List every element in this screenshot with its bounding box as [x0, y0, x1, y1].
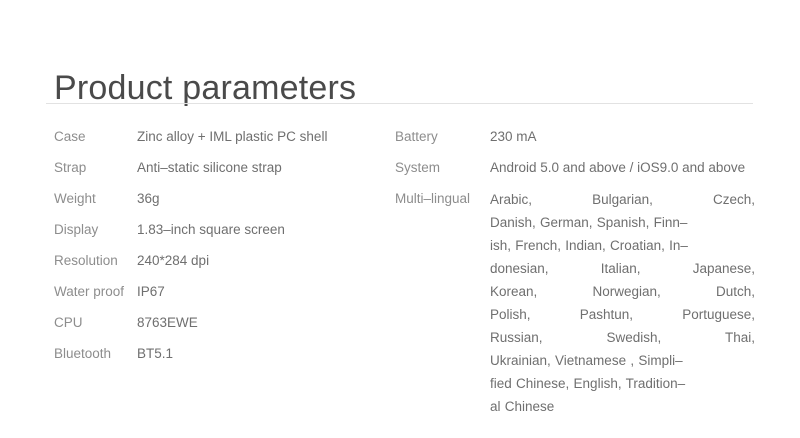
product-parameters-page: Product parameters Case Zinc alloy + IML…	[0, 0, 800, 438]
spec-row-case: Case Zinc alloy + IML plastic PC shell	[54, 126, 384, 147]
spec-row-battery: Battery 230 mA	[395, 126, 755, 147]
spec-column-right: Battery 230 mA System Android 5.0 and ab…	[395, 126, 755, 428]
spec-value-bluetooth: BT5.1	[137, 343, 384, 364]
spec-value-battery: 230 mA	[490, 126, 755, 147]
spec-value-water-proof: IP67	[137, 281, 384, 302]
spec-value-multi-lingual: Arabic, Bulgarian, Czech,Danish, German,…	[490, 188, 755, 418]
spec-row-water-proof: Water proof IP67	[54, 281, 384, 302]
spec-row-multi-lingual: Multi–lingual Arabic, Bulgarian, Czech,D…	[395, 188, 755, 418]
spec-value-display: 1.83–inch square screen	[137, 219, 384, 240]
spec-value-system: Android 5.0 and above / iOS9.0 and above	[490, 157, 755, 178]
spec-row-display: Display 1.83–inch square screen	[54, 219, 384, 240]
spec-label-resolution: Resolution	[54, 250, 137, 271]
spec-value-weight: 36g	[137, 188, 384, 209]
spec-label-cpu: CPU	[54, 312, 137, 333]
spec-row-cpu: CPU 8763EWE	[54, 312, 384, 333]
spec-row-weight: Weight 36g	[54, 188, 384, 209]
spec-column-left: Case Zinc alloy + IML plastic PC shell S…	[54, 126, 384, 374]
title-divider	[46, 103, 753, 104]
spec-label-bluetooth: Bluetooth	[54, 343, 137, 364]
spec-label-weight: Weight	[54, 188, 137, 209]
spec-row-resolution: Resolution 240*284 dpi	[54, 250, 384, 271]
spec-label-battery: Battery	[395, 126, 490, 147]
spec-label-display: Display	[54, 219, 137, 240]
spec-row-bluetooth: Bluetooth BT5.1	[54, 343, 384, 364]
spec-value-strap: Anti–static silicone strap	[137, 157, 384, 178]
spec-value-case: Zinc alloy + IML plastic PC shell	[137, 126, 384, 147]
spec-value-cpu: 8763EWE	[137, 312, 384, 333]
spec-label-multi-lingual: Multi–lingual	[395, 188, 490, 209]
spec-row-system: System Android 5.0 and above / iOS9.0 an…	[395, 157, 755, 178]
spec-label-case: Case	[54, 126, 137, 147]
spec-label-strap: Strap	[54, 157, 137, 178]
spec-label-system: System	[395, 157, 490, 178]
spec-row-strap: Strap Anti–static silicone strap	[54, 157, 384, 178]
spec-value-resolution: 240*284 dpi	[137, 250, 384, 271]
spec-label-water-proof: Water proof	[54, 281, 137, 302]
